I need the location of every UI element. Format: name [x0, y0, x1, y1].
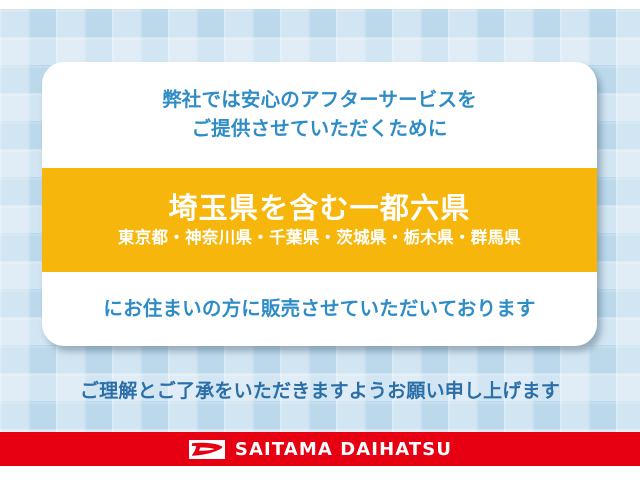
highlight-headline: 埼玉県を含む一都六県 — [168, 192, 470, 225]
brand-name: SAITAMA DAIHATSU — [235, 439, 452, 460]
intro-line-1: 弊社では安心のアフターサービスを — [162, 88, 477, 113]
prefecture-list: 東京都・神奈川県・千葉県・茨城県・栃木県・群馬県 — [118, 228, 521, 248]
card-intro-block: 弊社では安心のアフターサービスを ご提供させていただくために — [42, 62, 597, 168]
brand-footer-bar: SAITAMA DAIHATSU — [0, 432, 640, 466]
closing-line: にお住まいの方に販売させていただいております — [103, 297, 535, 322]
highlight-band: 埼玉県を含む一都六県 東京都・神奈川県・千葉県・茨城県・栃木県・群馬県 — [42, 168, 597, 272]
card-closing-block: にお住まいの方に販売させていただいております — [42, 272, 597, 346]
intro-line-2: ご提供させていただくために — [191, 117, 447, 142]
daihatsu-d-logo-icon — [188, 439, 226, 460]
bottom-white-strip — [0, 466, 640, 480]
notice-card: 弊社では安心のアフターサービスを ご提供させていただくために 埼玉県を含む一都六… — [42, 62, 597, 346]
top-white-strip — [0, 0, 640, 9]
notice-banner-image: 弊社では安心のアフターサービスを ご提供させていただくために 埼玉県を含む一都六… — [0, 0, 640, 480]
understanding-note: ご理解とご了承をいただきますようお願い申し上げます — [0, 376, 640, 403]
